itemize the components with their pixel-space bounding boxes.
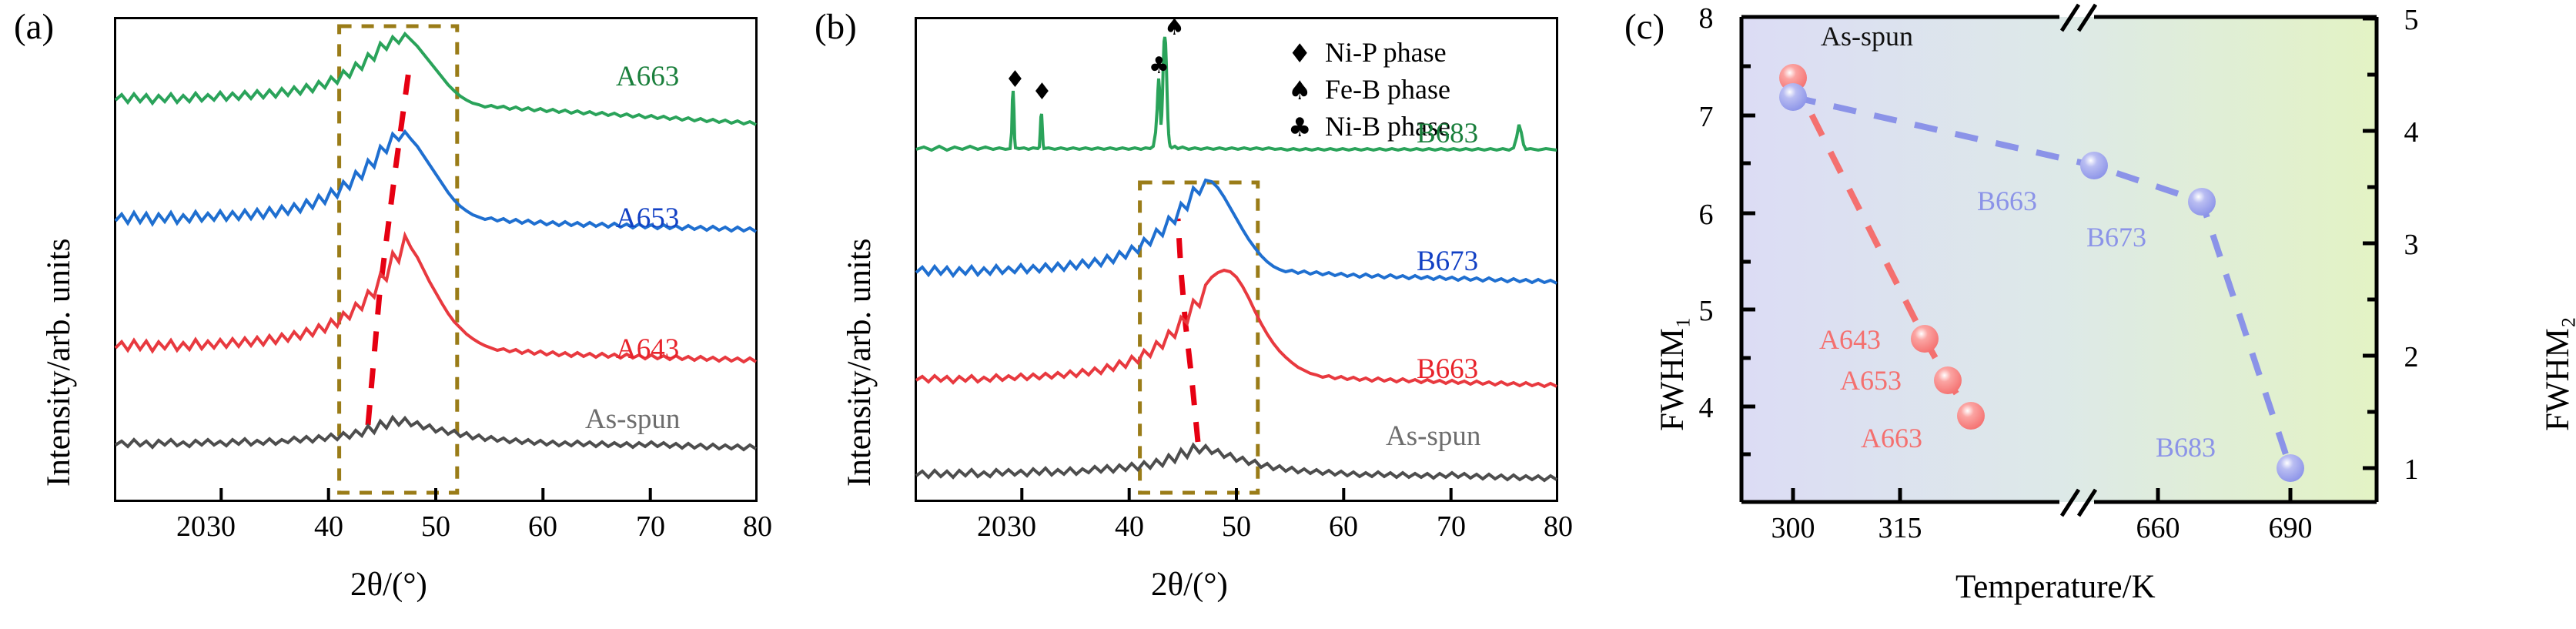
panel-b-peak-marker-diamond-1: ♦	[1005, 66, 1025, 93]
panel-a-xtick-50: 50	[405, 510, 467, 544]
panel-c-point-b683[interactable]	[2277, 454, 2304, 482]
panel-c-x-axis-label: Temperature/K	[1955, 568, 2156, 606]
panel-b: (b) Intensity/arb. units	[801, 0, 1617, 629]
panel-c-xtick-300: 300	[1753, 511, 1833, 545]
legend-label-ni-p: Ni-P phase	[1325, 36, 1447, 69]
panel-c-ytick-left-4: 4	[1684, 391, 1728, 425]
panel-c-ytick-right-2: 2	[2390, 340, 2433, 374]
panel-b-xtick-70: 70	[1420, 510, 1482, 544]
panel-a-xtick-30: 30	[190, 510, 252, 544]
panel-c-annotation-as-spun: As-spun	[1821, 20, 1913, 52]
panel-c-point-a663[interactable]	[1957, 402, 1985, 430]
panel-b-xtick-40: 40	[1099, 510, 1160, 544]
panel-a-xtick-40: 40	[298, 510, 360, 544]
panel-c-point-a653[interactable]	[1934, 366, 1962, 394]
panel-c-label-a653: A653	[1840, 364, 1902, 396]
panel-b-peak-marker-club: ♣	[1149, 52, 1169, 79]
panel-b-tag: (b)	[815, 6, 857, 48]
panel-b-xtick-60: 60	[1313, 510, 1374, 544]
panel-a-label-as-spun: As-spun	[585, 403, 680, 436]
panel-b-label-b683: B683	[1417, 117, 1478, 150]
panel-a-tag: (a)	[14, 6, 54, 48]
panel-b-xtick-80: 80	[1527, 510, 1589, 544]
panel-a-xtick-70: 70	[620, 510, 681, 544]
panel-c-ytick-left-7: 7	[1684, 100, 1728, 134]
panel-c-ytick-right-1: 1	[2390, 453, 2433, 487]
panel-c-label-b663: B663	[1977, 185, 2037, 217]
panel-c-label-b683: B683	[2156, 431, 2216, 463]
panel-b-xtick-50: 50	[1206, 510, 1267, 544]
panel-c-point-b663[interactable]	[2080, 152, 2108, 179]
panel-b-peak-marker-diamond-2: ♦	[1032, 79, 1052, 105]
panel-b-x-axis-label: 2θ/(°)	[1151, 566, 1228, 604]
panel-c-point-as-spun-fwhm2[interactable]	[1779, 83, 1807, 111]
panel-c-point-b673[interactable]	[2188, 188, 2216, 216]
figure-xrd-fwhm: (a) Intensity/arb. units	[0, 0, 2576, 629]
legend-label-fe-b: Fe-B phase	[1325, 73, 1450, 105]
panel-a-label-a643: A643	[616, 333, 679, 366]
panel-a: (a) Intensity/arb. units	[0, 0, 801, 629]
panel-c-ytick-right-3: 3	[2390, 228, 2433, 262]
panel-b-xticks	[1022, 488, 1450, 502]
panel-c-point-a643[interactable]	[1911, 325, 1939, 353]
panel-b-y-axis-label: Intensity/arb. units	[841, 239, 878, 487]
panel-a-x-axis-label: 2θ/(°)	[350, 566, 427, 604]
panel-c-xtick-315: 315	[1860, 511, 1940, 545]
panel-b-peak-shift-guide	[1178, 219, 1198, 442]
panel-c-ytick-right-5: 5	[2390, 3, 2433, 37]
panel-c-ytick-left-5: 5	[1684, 294, 1728, 328]
panel-c-label-a643: A643	[1819, 323, 1881, 356]
legend-spade-icon: ♠	[1288, 75, 1311, 106]
panel-c-ytick-right-4: 4	[2390, 115, 2433, 149]
panel-c-xtick-660: 660	[2118, 511, 2198, 545]
panel-c: (c) FWHM₁ FWHM₂	[1617, 0, 2576, 629]
panel-a-xtick-60: 60	[512, 510, 574, 544]
panel-c-ytick-left-8: 8	[1684, 2, 1728, 35]
panel-a-xticks	[221, 488, 650, 502]
panel-c-ytick-left-6: 6	[1684, 198, 1728, 232]
panel-a-xtick-80: 80	[727, 510, 788, 544]
panel-a-label-a663: A663	[616, 60, 679, 93]
panel-b-label-b663: B663	[1417, 353, 1478, 386]
panel-b-label-as-spun: As-spun	[1386, 420, 1480, 453]
panel-a-label-a653: A653	[616, 202, 679, 235]
panel-c-background	[1741, 17, 2377, 502]
panel-b-xtick-30: 30	[991, 510, 1052, 544]
panel-c-label-b673: B673	[2086, 221, 2146, 253]
legend-club-icon: ♣	[1288, 112, 1311, 143]
panel-a-y-axis-label: Intensity/arb. units	[40, 239, 78, 487]
panel-c-label-a663: A663	[1861, 422, 1922, 454]
panel-c-xtick-690: 690	[2250, 511, 2330, 545]
panel-b-label-b673: B673	[1417, 245, 1478, 278]
panel-b-peak-marker-spade: ♠	[1164, 14, 1185, 41]
legend-diamond-icon: ♦	[1288, 38, 1311, 69]
